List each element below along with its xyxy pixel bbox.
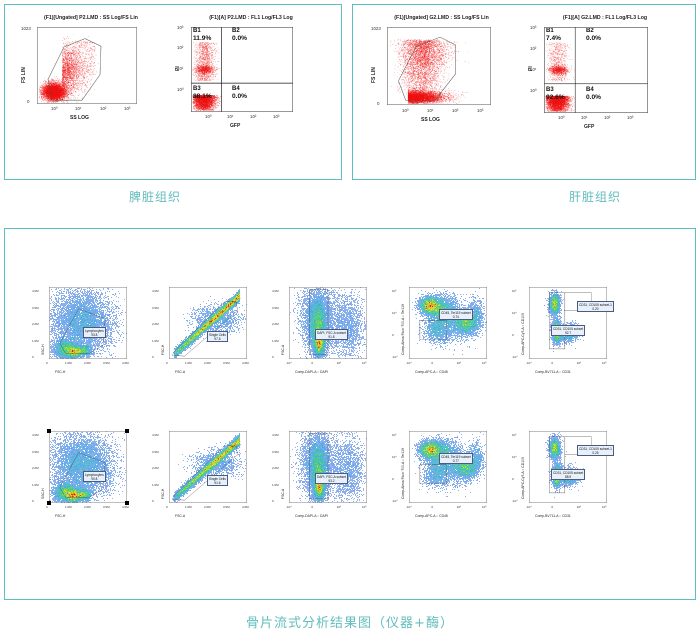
gate-value: 93.8 — [85, 333, 104, 337]
quadrant-value-b1: 11.9% — [193, 35, 211, 42]
selection-handle[interactable] — [47, 501, 51, 505]
x-tick: 4.0M — [242, 361, 249, 365]
y-axis-label: FSC-H — [161, 345, 165, 355]
x-tick: 10¹ — [581, 115, 587, 120]
y-tick: 10⁰ — [177, 87, 184, 93]
x-tick: 0 — [311, 505, 313, 509]
y-tick: 0 — [27, 99, 29, 104]
y-tick: 1023 — [21, 26, 31, 31]
y-tick: 2.0M — [32, 322, 39, 326]
liver-panel: (F1)[Ungated] G2.LMD : SS Log/FS Lin 102… — [352, 4, 696, 180]
y-tick: 10² — [530, 46, 536, 51]
y-tick: 0 — [32, 355, 34, 359]
gate-label: CD31, CD105 subset — [553, 327, 583, 331]
y-tick: 10⁵ — [392, 433, 397, 437]
y-tick: 10⁰ — [530, 88, 537, 94]
x-tick: 10⁴ — [457, 361, 462, 365]
x-tick: -10⁴ — [526, 361, 532, 365]
bone-plot-r2-c3: 4.0M3.0M2.0M1.0M0-10⁴010⁴10⁵Comp-DAPI-A … — [271, 425, 387, 533]
selection-handle[interactable] — [125, 501, 129, 505]
y-axis-label: Comp-APC-Cy7-A :: CD105 — [521, 457, 525, 499]
y-tick: 0 — [392, 333, 394, 337]
y-tick: 2.0M — [152, 466, 159, 470]
x-tick: 1.0M — [65, 505, 72, 509]
x-tick: 0 — [166, 505, 168, 509]
x-axis-label: Comp-APC-A :: CD45 — [415, 370, 448, 374]
density-canvas — [49, 431, 127, 503]
bone-plot-r1-c2: 4.0M3.0M2.0M1.0M001.0M2.0M3.0M4.0MFSC-AF… — [151, 281, 267, 389]
x-tick: 2.0M — [84, 361, 91, 365]
x-tick: 10⁴ — [577, 505, 582, 509]
quadrant-label-b1: B1 — [546, 28, 554, 34]
y-tick: 3.0M — [272, 306, 279, 310]
caption-spleen: 脾脏组织 — [100, 188, 210, 205]
gate-stat-box: CD31, CD105 subset92.7 — [551, 325, 585, 336]
gate-value: 92.7 — [553, 331, 583, 335]
gate-label: CD31, CD105 subset — [553, 471, 583, 475]
density-canvas — [169, 287, 247, 359]
x-tick: 0 — [46, 505, 48, 509]
gate-stat-box: DAPI, FSC-A subset91.8 — [315, 329, 348, 340]
gate-value: 91.6 — [209, 481, 226, 485]
x-tick: -10⁴ — [286, 505, 292, 509]
x-axis-label: FSC-A — [175, 370, 185, 374]
density-canvas — [169, 431, 247, 503]
y-tick: 10⁴ — [392, 311, 397, 315]
x-tick: 3.0M — [103, 361, 110, 365]
y-tick: 1.0M — [152, 339, 159, 343]
y-tick: 1.0M — [272, 483, 279, 487]
gate-stat-box: CD45, Ter119 subset0.77 — [439, 453, 473, 464]
y-tick: 4.0M — [152, 433, 159, 437]
y-tick: 4.0M — [32, 433, 39, 437]
gate-label: CD31, CD105 subset-1 — [579, 447, 612, 451]
x-tick: -10⁴ — [406, 361, 412, 365]
x-tick: 10⁰ — [205, 114, 212, 120]
quadrant-value-b2: 0.0% — [232, 35, 247, 42]
y-tick: -10⁴ — [512, 355, 518, 359]
y-tick: 3.0M — [272, 450, 279, 454]
y-axis-label: SSC-H — [41, 488, 45, 499]
quadrant-value-b4: 0.0% — [232, 93, 247, 100]
gate-label: CD45, Ter119 subset — [441, 455, 471, 459]
x-tick: 10² — [604, 115, 610, 120]
gate-label: CD45, Ter119 subset — [441, 311, 471, 315]
gate-stat-box: Lymphocytes93.8 — [83, 327, 106, 338]
y-tick: 4.0M — [32, 289, 39, 293]
y-tick: 0 — [392, 477, 394, 481]
x-tick: 0 — [551, 505, 553, 509]
gate-value: 0.74 — [441, 315, 471, 319]
quadrant-label-b4: B4 — [586, 87, 594, 93]
x-tick: 4.0M — [122, 505, 129, 509]
density-canvas — [289, 287, 367, 359]
y-tick: 10⁵ — [512, 289, 517, 293]
x-tick: -10⁴ — [286, 361, 292, 365]
bone-plot-r2-c5: 10⁵10⁴0-10⁴-10⁴010⁴10⁵Comp-BV711-A :: CD… — [511, 425, 627, 533]
y-tick: 1.0M — [272, 339, 279, 343]
gate-label: Single Cells — [209, 333, 226, 337]
gate-value: 91.8 — [317, 335, 346, 339]
y-tick: 10⁴ — [512, 311, 517, 315]
bone-plot-r2-c2: 4.0M3.0M2.0M1.0M001.0M2.0M3.0M4.0MFSC-AF… — [151, 425, 267, 533]
y-tick: 10² — [177, 45, 183, 50]
y-tick: 0 — [272, 355, 274, 359]
gate-value: 97.6 — [209, 337, 226, 341]
x-tick: 10⁵ — [602, 361, 607, 365]
y-axis-label: Comp-APC-Cy7-A :: CD105 — [521, 313, 525, 355]
x-tick: 2.0M — [84, 505, 91, 509]
x-tick: 0 — [431, 505, 433, 509]
x-axis-label: Comp-BV711-A :: CD31 — [535, 514, 571, 518]
density-canvas — [409, 431, 487, 503]
x-axis-label: FSC-A — [175, 514, 185, 518]
gate-stat-box: Single Cells91.6 — [207, 475, 228, 486]
caption-liver: 肝脏组织 — [540, 188, 650, 205]
y-axis-label: FSC-A — [281, 345, 285, 355]
y-tick: 2.0M — [272, 466, 279, 470]
y-tick: -10⁴ — [392, 499, 398, 503]
y-tick: 0 — [512, 333, 514, 337]
spleen-panel: (F1)[Ungated] P2.LMD : SS Log/FS Lin 102… — [4, 4, 342, 180]
scatter-canvas — [37, 27, 137, 104]
y-tick: 3.0M — [152, 450, 159, 454]
x-tick: 10¹ — [75, 106, 81, 111]
y-tick: 0 — [512, 477, 514, 481]
x-tick: 10⁴ — [337, 361, 342, 365]
x-axis-label: GFP — [584, 124, 594, 130]
y-tick: 0 — [152, 355, 154, 359]
x-axis-label: FSC-H — [55, 370, 65, 374]
x-axis-label: SS LOG — [421, 117, 440, 123]
x-tick: 2.0M — [204, 505, 211, 509]
gate-label: Single Cells — [209, 477, 226, 481]
y-axis-label: FS LIN — [21, 67, 27, 83]
quadrant-value-b3: 88.1% — [193, 93, 212, 100]
gate-stat-box: CD45, Ter119 subset0.74 — [439, 309, 473, 320]
gate-label: Lymphocytes — [85, 329, 104, 333]
gate-stat-box: Lymphocytes90.8 — [83, 471, 106, 482]
y-tick: 10⁵ — [512, 433, 517, 437]
y-tick: -10⁴ — [512, 499, 518, 503]
y-tick: 4.0M — [272, 433, 279, 437]
x-tick: 0 — [431, 361, 433, 365]
x-tick: 10⁴ — [337, 505, 342, 509]
selection-handle[interactable] — [47, 429, 51, 433]
x-axis-label: Comp-BV711-A :: CD31 — [535, 370, 571, 374]
scatter-canvas — [387, 27, 491, 105]
y-tick: 0 — [152, 499, 154, 503]
y-tick: 3.0M — [32, 306, 39, 310]
plot-spleen-gfp-pi: (F1)[A] P2.LMD : FL1 Log/FL3 Log 10³ 10²… — [165, 13, 335, 163]
y-tick: 1023 — [371, 26, 381, 31]
density-canvas — [529, 287, 607, 359]
y-tick: 10⁴ — [392, 455, 397, 459]
x-tick: 3.0M — [223, 505, 230, 509]
x-tick: 3.0M — [103, 505, 110, 509]
quadrant-label-b2: B2 — [232, 28, 240, 34]
x-tick: 1.0M — [185, 361, 192, 365]
quadrant-label-b3: B3 — [193, 86, 201, 92]
x-tick: 10⁰ — [558, 115, 565, 121]
gate-stat-box: DAPI, FSC-A subset93.2 — [315, 473, 348, 484]
y-tick: 10³ — [177, 25, 183, 30]
bone-plot-r2-c4: 10⁵10⁴0-10⁴-10⁴010⁴10⁵Comp-APC-A :: CD45… — [391, 425, 507, 533]
x-tick: 10⁵ — [362, 505, 367, 509]
bone-plot-r1-c3: 4.0M3.0M2.0M1.0M0-10⁴010⁴10⁵Comp-DAPI-A … — [271, 281, 387, 389]
x-tick: 0 — [166, 361, 168, 365]
gate-value: 88.9 — [553, 475, 583, 479]
x-axis-label: GFP — [230, 123, 240, 129]
x-tick: 10² — [452, 108, 458, 113]
y-axis-label: FSC-A — [281, 489, 285, 499]
quadrant-label-b4: B4 — [232, 86, 240, 92]
x-tick: 10³ — [124, 106, 130, 111]
y-axis-label: FSC-H — [161, 489, 165, 499]
x-tick: 10³ — [477, 108, 483, 113]
gate-stat-box: CD31, CD105 subset88.9 — [551, 469, 585, 480]
y-tick: 1.0M — [32, 483, 39, 487]
y-tick: 10⁴ — [512, 455, 517, 459]
x-tick: 10² — [100, 106, 106, 111]
gate-stat-box: CD31, CD105 subset-10.25 — [577, 445, 614, 456]
x-tick: 10³ — [627, 115, 633, 120]
y-tick: 10⁵ — [392, 289, 397, 293]
y-tick: -10⁴ — [392, 355, 398, 359]
gate-label: Lymphocytes — [85, 473, 104, 477]
x-tick: 10¹ — [427, 108, 433, 113]
density-canvas — [289, 431, 367, 503]
y-tick: 4.0M — [152, 289, 159, 293]
y-tick: 2.0M — [32, 466, 39, 470]
x-tick: 10⁴ — [577, 361, 582, 365]
selection-handle[interactable] — [125, 429, 129, 433]
y-tick: 1.0M — [32, 339, 39, 343]
y-axis-label: PI — [528, 66, 534, 71]
gate-value: 90.8 — [85, 477, 104, 481]
quadrant-label-b2: B2 — [586, 28, 594, 34]
x-axis-label: SS LOG — [70, 115, 89, 121]
quadrant-value-b3: 92.6% — [546, 94, 565, 101]
x-axis-label: Comp-DAPI-A :: DAPI — [295, 514, 328, 518]
x-tick: 10² — [250, 114, 256, 119]
y-tick: 3.0M — [32, 450, 39, 454]
gate-value: 0.77 — [441, 459, 471, 463]
gate-value: 93.2 — [317, 479, 346, 483]
quadrant-label-b1: B1 — [193, 28, 201, 34]
y-tick: 0 — [377, 101, 379, 106]
x-tick: 10⁰ — [402, 108, 409, 114]
x-tick: 10⁵ — [362, 361, 367, 365]
y-tick: 4.0M — [272, 289, 279, 293]
density-canvas — [49, 287, 127, 359]
y-axis-label: Comp-Alexa Fluor 700-A :: Ter119 — [401, 448, 405, 499]
x-tick: 4.0M — [242, 505, 249, 509]
x-tick: -10⁴ — [526, 505, 532, 509]
y-tick: 10³ — [530, 25, 536, 30]
quadrant-value-b4: 0.0% — [586, 94, 601, 101]
y-axis-label: FS LIN — [371, 67, 377, 83]
gate-stat-box: Single Cells97.6 — [207, 331, 228, 342]
quadrant-label-b3: B3 — [546, 87, 554, 93]
plot-spleen-ungated: (F1)[Ungated] P2.LMD : SS Log/FS Lin 102… — [13, 13, 163, 163]
plot-liver-gfp-pi: (F1)[A] G2.LMD : FL1 Log/FL3 Log 10³ 10²… — [518, 13, 690, 163]
x-tick: 10³ — [273, 114, 279, 119]
y-tick: 0 — [32, 499, 34, 503]
gate-value: 0.20 — [579, 307, 612, 311]
y-tick: 1.0M — [152, 483, 159, 487]
gate-label: CD31, CD105 subset-1 — [579, 303, 612, 307]
gate-label: DAPI, FSC-A subset — [317, 331, 346, 335]
x-axis-label: Comp-DAPI-A :: DAPI — [295, 370, 328, 374]
plot-liver-ungated: (F1)[Ungated] G2.LMD : SS Log/FS Lin 102… — [361, 13, 516, 163]
y-axis-label: Comp-Alexa Fluor 700-A :: Ter119 — [401, 304, 405, 355]
bone-flow-panel: 4.0M3.0M2.0M1.0M001.0M2.0M3.0M4.0MFSC-HS… — [4, 228, 696, 600]
density-canvas — [409, 287, 487, 359]
y-tick: 2.0M — [152, 322, 159, 326]
x-tick: 3.0M — [223, 361, 230, 365]
x-tick: 10⁵ — [482, 361, 487, 365]
caption-bone: 骨片流式分析结果图（仪器+酶） — [180, 612, 520, 631]
x-tick: 10⁴ — [457, 505, 462, 509]
x-tick: 10¹ — [227, 114, 233, 119]
x-axis-label: Comp-APC-A :: CD45 — [415, 514, 448, 518]
x-tick: 1.0M — [185, 505, 192, 509]
density-canvas — [529, 431, 607, 503]
bone-plot-r1-c5: 10⁵10⁴0-10⁴-10⁴010⁴10⁵Comp-BV711-A :: CD… — [511, 281, 627, 389]
x-tick: 4.0M — [122, 361, 129, 365]
gate-value: 0.25 — [579, 451, 612, 455]
x-tick: 0 — [46, 361, 48, 365]
y-tick: 3.0M — [152, 306, 159, 310]
bone-plot-r2-c1: 4.0M3.0M2.0M1.0M001.0M2.0M3.0M4.0MFSC-HS… — [31, 425, 147, 533]
y-tick: 2.0M — [272, 322, 279, 326]
plot-title: (F1)[A] G2.LMD : FL1 Log/FL3 Log — [524, 15, 686, 21]
x-tick: 1.0M — [65, 361, 72, 365]
quadrant-value-b1: 7.4% — [546, 35, 561, 42]
plot-title: (F1)[Ungated] P2.LMD : SS Log/FS Lin — [21, 15, 161, 21]
x-tick: 10⁰ — [51, 106, 58, 112]
x-tick: 0 — [551, 361, 553, 365]
y-axis-label: PI — [175, 66, 181, 71]
plot-title: (F1)[A] P2.LMD : FL1 Log/FL3 Log — [171, 15, 331, 21]
x-tick: 2.0M — [204, 361, 211, 365]
x-tick: 10⁵ — [602, 505, 607, 509]
bone-plot-r1-c1: 4.0M3.0M2.0M1.0M001.0M2.0M3.0M4.0MFSC-HS… — [31, 281, 147, 389]
gate-stat-box: CD31, CD105 subset-10.20 — [577, 301, 614, 312]
x-axis-label: FSC-H — [55, 514, 65, 518]
x-tick: 10⁵ — [482, 505, 487, 509]
plot-title: (F1)[Ungated] G2.LMD : SS Log/FS Lin — [369, 15, 514, 21]
y-tick: 0 — [272, 499, 274, 503]
quadrant-value-b2: 0.0% — [586, 35, 601, 42]
x-tick: -10⁴ — [406, 505, 412, 509]
bone-plot-r1-c4: 10⁵10⁴0-10⁴-10⁴010⁴10⁵Comp-APC-A :: CD45… — [391, 281, 507, 389]
x-tick: 0 — [311, 361, 313, 365]
y-axis-label: SSC-H — [41, 344, 45, 355]
gate-label: DAPI, FSC-A subset — [317, 475, 346, 479]
